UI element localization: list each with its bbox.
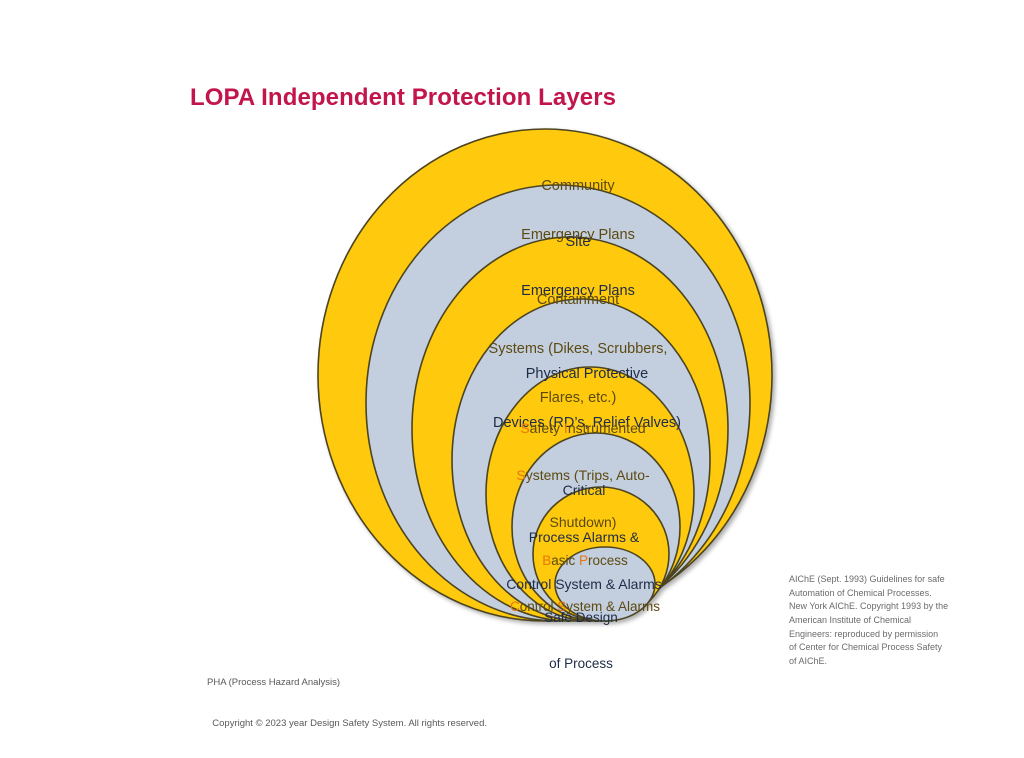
diagram-canvas: LOPA Independent Protection Layers Commu… <box>0 0 1024 724</box>
aiche-attribution: AIChE (Sept. 1993) Guidelines for safe A… <box>789 573 994 669</box>
lopa-layers-diagram <box>300 118 792 638</box>
layer-ellipse-safe-design-of-process <box>555 547 655 621</box>
pha-copyright-credit: PHA (Process Hazard Analysis) Copyright … <box>207 648 487 758</box>
credit-line: PHA (Process Hazard Analysis) <box>207 676 487 690</box>
page-title: LOPA Independent Protection Layers <box>190 84 616 112</box>
label-line: of Process <box>544 656 618 671</box>
